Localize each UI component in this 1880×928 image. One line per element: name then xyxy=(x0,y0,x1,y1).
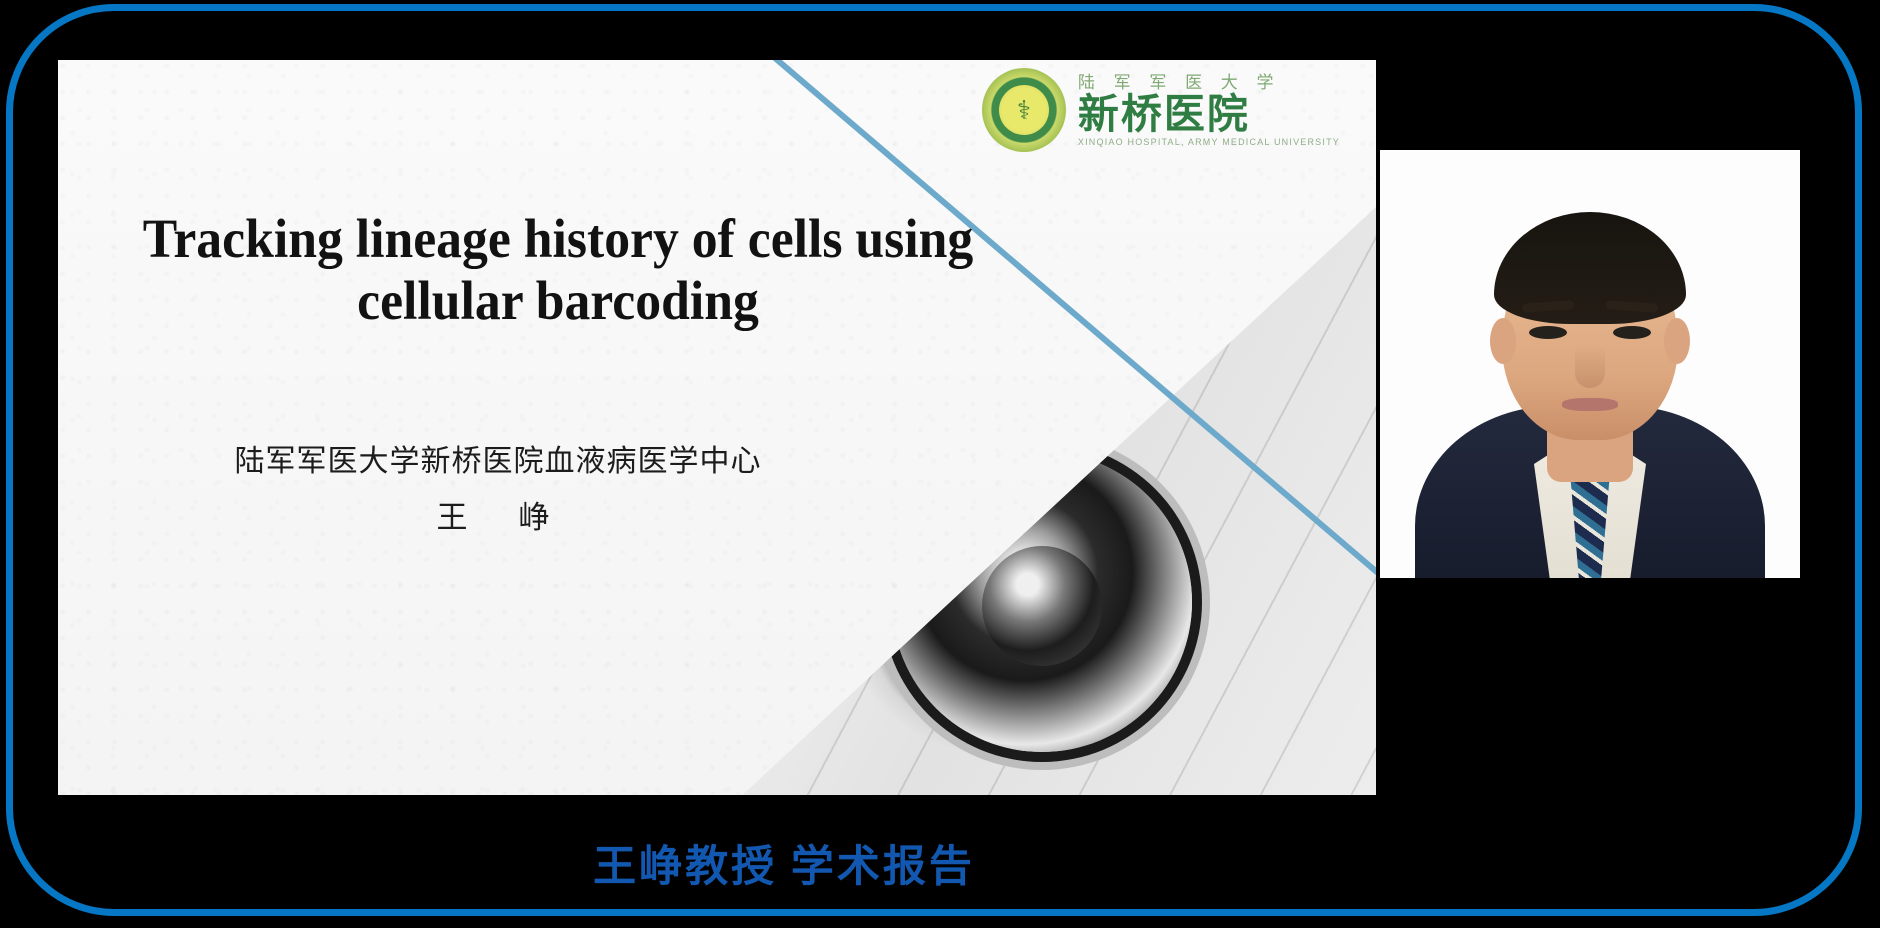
hospital-logo-text: 陆 军 军 医 大 学 新桥医院 XINQIAO HOSPITAL, ARMY … xyxy=(1078,74,1340,147)
portrait-nose xyxy=(1575,346,1605,388)
stethoscope-diaphragm-icon xyxy=(982,546,1102,666)
presentation-slide[interactable]: 910 Flag Re Abnormal ⚕ 陆 军 军 医 大 学 新桥医院 … xyxy=(58,60,1376,795)
webinar-stage: 910 Flag Re Abnormal ⚕ 陆 军 军 医 大 学 新桥医院 … xyxy=(0,0,1880,928)
portrait-eye-right xyxy=(1613,326,1651,339)
portrait-mouth xyxy=(1562,398,1618,411)
slide-title: Tracking lineage history of cells using … xyxy=(88,208,1028,331)
logo-hospital-name: 新桥医院 xyxy=(1078,94,1340,135)
caduceus-icon: ⚕ xyxy=(999,85,1049,135)
speaker-video-tile[interactable] xyxy=(1380,150,1800,578)
logo-university-name: 陆 军 军 医 大 学 xyxy=(1078,74,1340,91)
slide-title-line-1: Tracking lineage history of cells using xyxy=(88,208,1028,270)
slide-affiliation: 陆军军医大学新桥医院血液病医学中心 xyxy=(58,436,938,480)
speaker-portrait-photo xyxy=(1380,150,1800,578)
hospital-logo: ⚕ 陆 军 军 医 大 学 新桥医院 XINQIAO HOSPITAL, ARM… xyxy=(982,68,1340,152)
portrait-ear-left xyxy=(1490,318,1516,364)
slide-title-line-2: cellular barcoding xyxy=(88,270,1028,332)
hospital-emblem-icon: ⚕ xyxy=(982,68,1066,152)
logo-english-name: XINQIAO HOSPITAL, ARMY MEDICAL UNIVERSIT… xyxy=(1078,138,1340,147)
portrait-ear-right xyxy=(1664,318,1690,364)
portrait-eye-left xyxy=(1529,326,1567,339)
session-caption: 王峥教授 学术报告 xyxy=(0,832,1568,894)
slide-speaker-name: 王 峥 xyxy=(58,492,938,537)
